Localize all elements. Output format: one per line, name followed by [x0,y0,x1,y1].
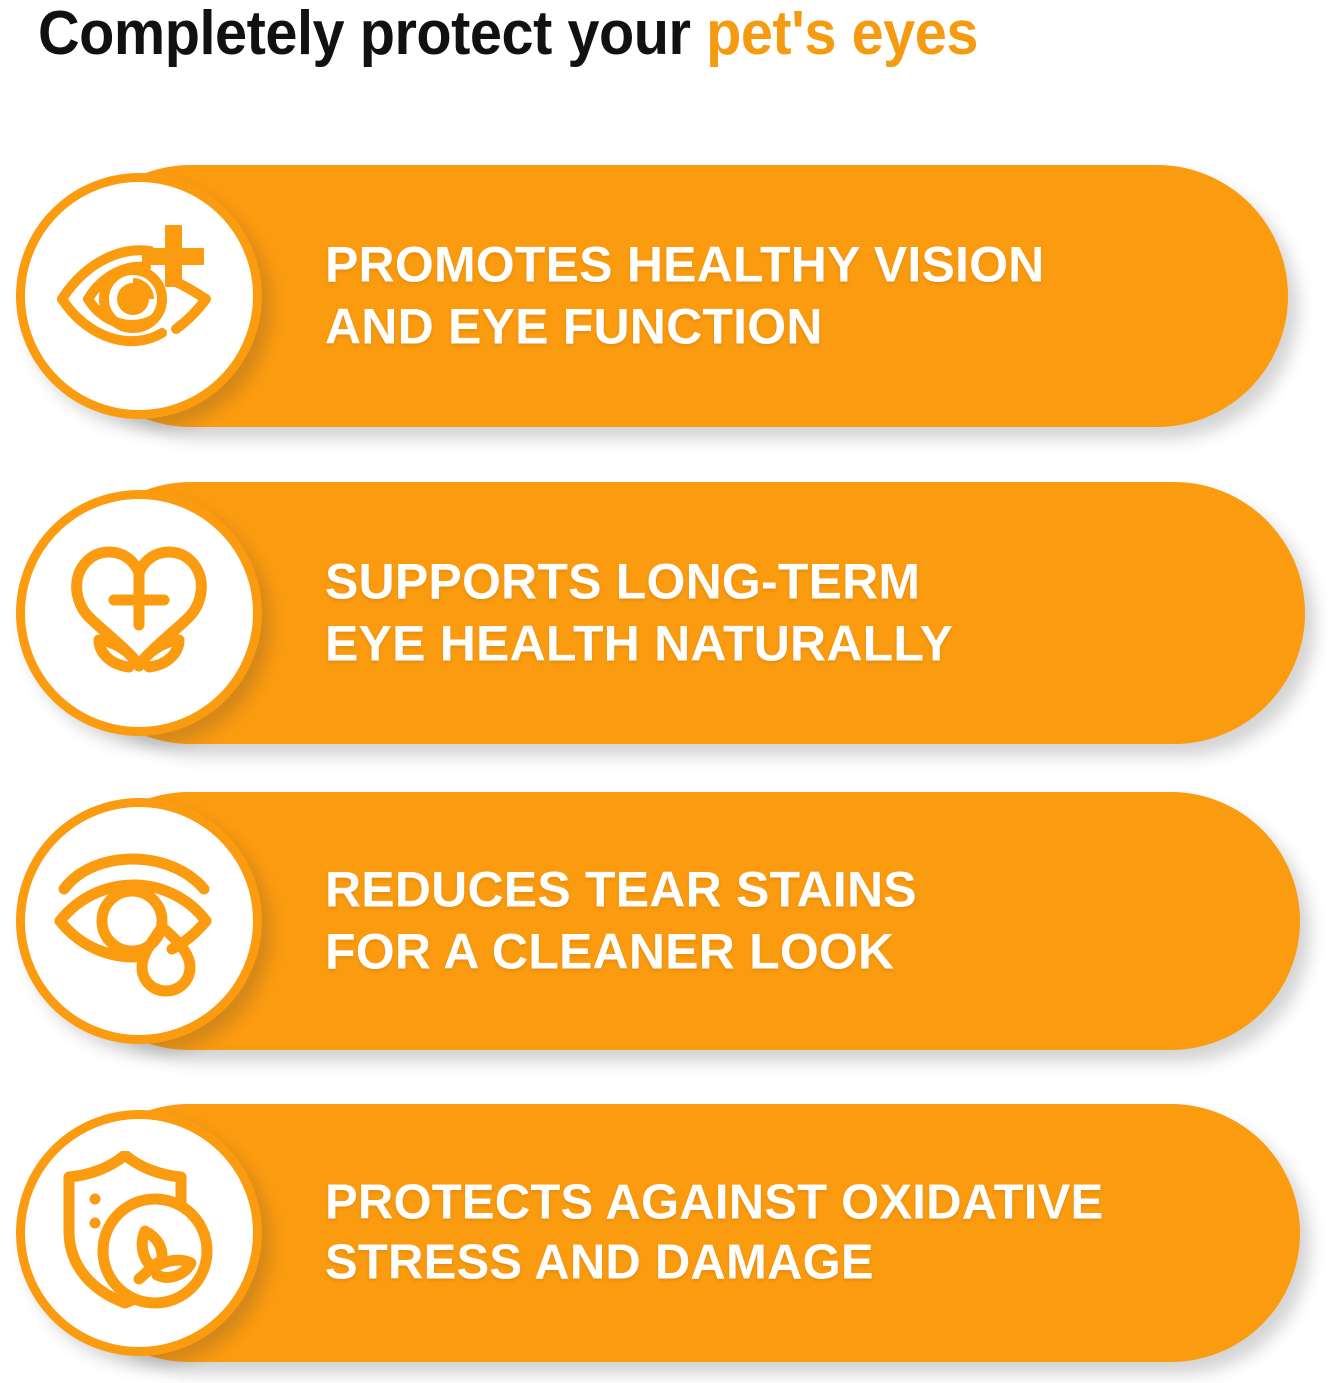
benefit-label: PROMOTES HEALTHY VISION AND EYE FUNCTION [325,235,1045,358]
benefit-row: PROMOTES HEALTHY VISION AND EYE FUNCTION [0,165,1328,427]
benefit-row: PROTECTS AGAINST OXIDATIVE STRESS AND DA… [0,1104,1328,1362]
benefit-label: SUPPORTS LONG-TERM EYE HEALTH NATURALLY [325,552,953,675]
benefit-badge [16,490,262,736]
benefit-label: PROTECTS AGAINST OXIDATIVE STRESS AND DA… [325,1173,1103,1294]
benefit-badge [16,173,262,419]
benefit-row: SUPPORTS LONG-TERM EYE HEALTH NATURALLY [0,482,1328,744]
shield-leaf-icon [57,1151,222,1316]
benefit-label: REDUCES TEAR STAINS FOR A CLEANER LOOK [325,860,917,983]
crying-eye-icon [54,841,224,1001]
infographic-page: Completely protect your pet's eyes PROMO… [0,0,1328,1383]
page-title-accent: pet's eyes [706,0,978,68]
benefit-badge [16,798,262,1044]
page-title-plain: Completely protect your [38,0,706,68]
heart-plus-leaf-icon [59,533,219,693]
eye-plus-icon [54,221,224,371]
benefit-badge [16,1110,262,1356]
benefit-row: REDUCES TEAR STAINS FOR A CLEANER LOOK [0,792,1328,1050]
page-title: Completely protect your pet's eyes [38,0,1228,74]
